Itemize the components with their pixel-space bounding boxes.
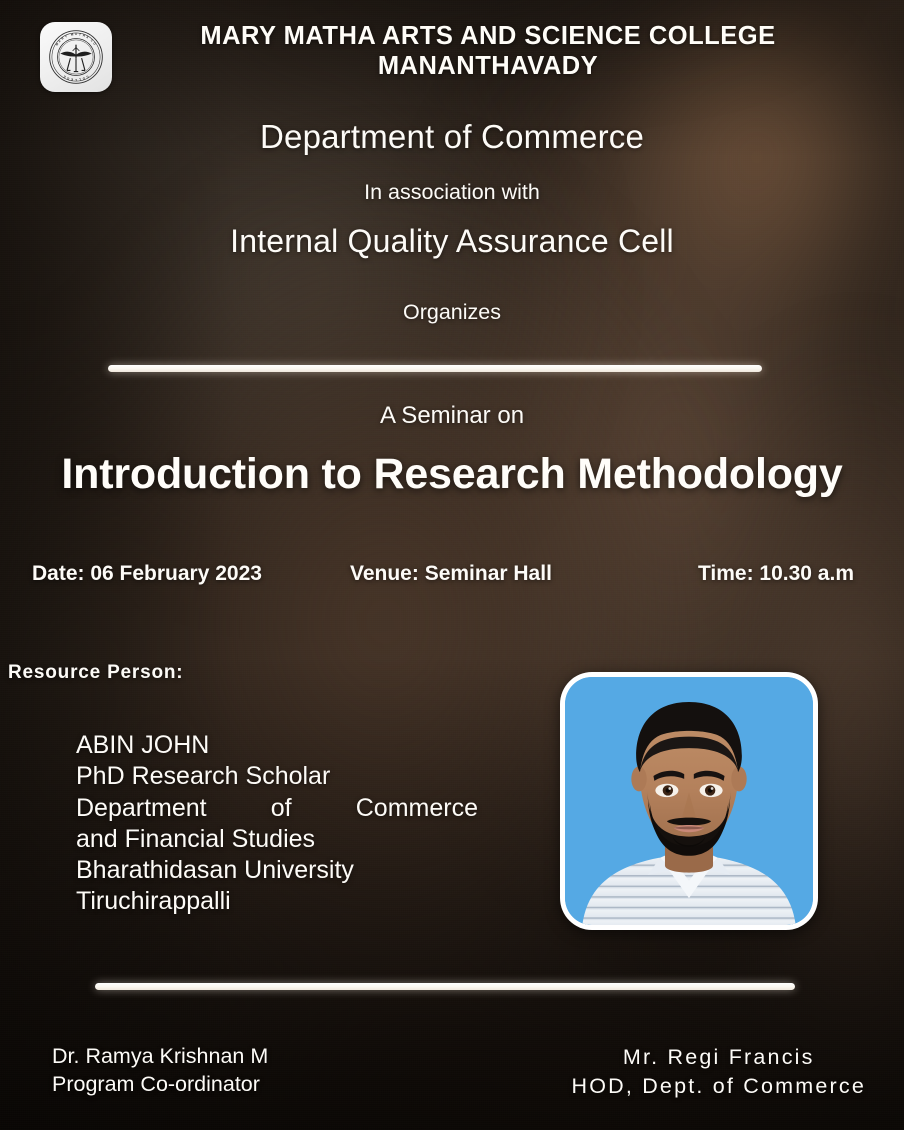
hod-role: HOD, Dept. of Commerce [571,1072,866,1101]
svg-text:E: E [71,77,74,81]
hod-name: Mr. Regi Francis [623,1045,815,1069]
event-date: Date: 06 February 2023 [32,562,262,586]
divider-bottom [95,983,795,990]
event-meta-row: Date: 06 February 2023 Venue: Seminar Ha… [28,562,876,586]
resource-person-department-line1: Department of Commerce [76,793,478,824]
coordinator-name: Dr. Ramya Krishnan M [52,1044,268,1068]
signature-coordinator: Dr. Ramya Krishnan M Program Co-ordinato… [52,1043,268,1101]
resource-person-designation: PhD Research Scholar [76,761,478,792]
poster-content: M A R Y M A T H A C O C O L L [0,0,904,1130]
seminar-poster: M A R Y M A T H A C O C O L L [0,0,904,1130]
svg-text:A: A [85,35,90,40]
resource-person-city: Tiruchirappalli [76,886,478,917]
college-seal-logo: M A R Y M A T H A C O C O L L [40,22,112,92]
department-line: Department of Commerce [0,118,904,156]
resource-person-name: ABIN JOHN [76,730,478,761]
svg-text:L: L [75,78,77,82]
svg-text:E: E [63,75,67,79]
signature-hod: Mr. Regi Francis HOD, Dept. of Commerce [571,1043,866,1101]
seminar-title: Introduction to Research Methodology [0,450,904,499]
resource-person-photo-inner [565,677,813,925]
college-name: MARY MATHA ARTS AND SCIENCE COLLEGE MANA… [143,22,833,81]
resource-person-label: Resource Person: [8,662,183,684]
association-line: In association with [0,180,904,205]
poster-header: M A R Y M A T H A C O C O L L [0,22,904,92]
organizes-label: Organizes [403,300,501,324]
poster-footer: Dr. Ramya Krishnan M Program Co-ordinato… [0,1043,904,1101]
partner-label: Internal Quality Assurance Cell [230,223,674,259]
coordinator-role: Program Co-ordinator [52,1071,268,1099]
divider-top [108,365,762,372]
association-label: In association with [364,180,540,204]
resource-person-department-line2: and Financial Studies [76,824,478,855]
resource-person-university: Bharathidasan University [76,855,478,886]
svg-text:T: T [79,32,82,36]
college-name-block: MARY MATHA ARTS AND SCIENCE COLLEGE MANA… [112,22,904,81]
partner-line: Internal Quality Assurance Cell [0,223,904,260]
organizes-line: Organizes [0,300,904,325]
resource-person-photo [560,672,818,930]
event-venue: Venue: Seminar Hall [350,562,552,586]
seminar-prefix: A Seminar on [0,402,904,430]
svg-text:Y: Y [64,34,68,38]
event-time: Time: 10.30 a.m [698,562,854,586]
resource-person-details: ABIN JOHN PhD Research Scholar Departmen… [76,730,478,918]
department-label: Department of Commerce [260,118,644,155]
